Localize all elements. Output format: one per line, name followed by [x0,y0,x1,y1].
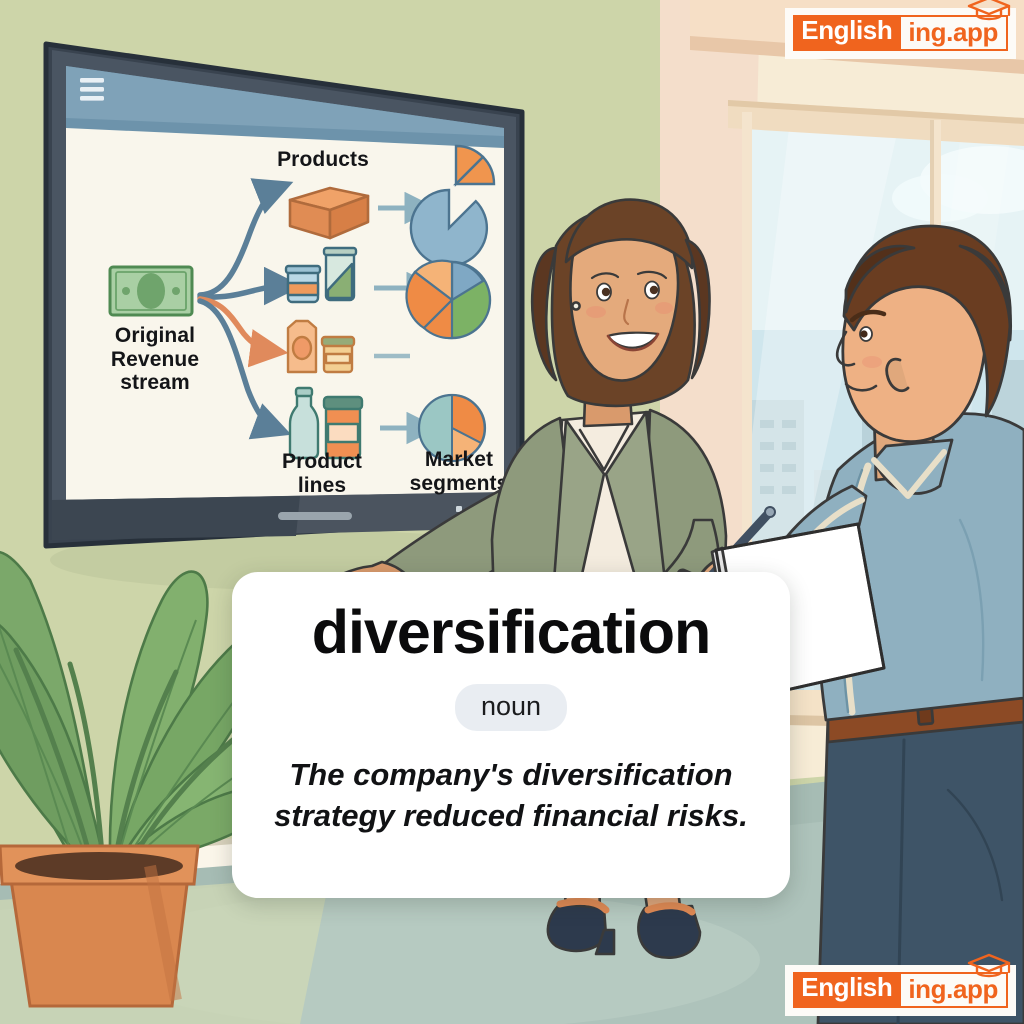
vocabulary-card: diversification noun The company's diver… [232,572,790,898]
brand-logo-bottom[interactable]: English ing.app [785,965,1016,1016]
logo-text-english: English [793,15,899,51]
graduation-cap-icon-2 [966,952,1012,978]
word-title: diversification [312,600,711,664]
example-sentence: The company's diversification strategy r… [249,755,774,837]
brand-logo-top[interactable]: English ing.app [785,8,1016,59]
graduation-cap-icon [966,0,1012,21]
part-of-speech-badge: noun [455,684,567,731]
logo-text-english-2: English [793,972,899,1008]
illustration-scene: Products Original Revenue stream Product… [0,0,1024,1024]
